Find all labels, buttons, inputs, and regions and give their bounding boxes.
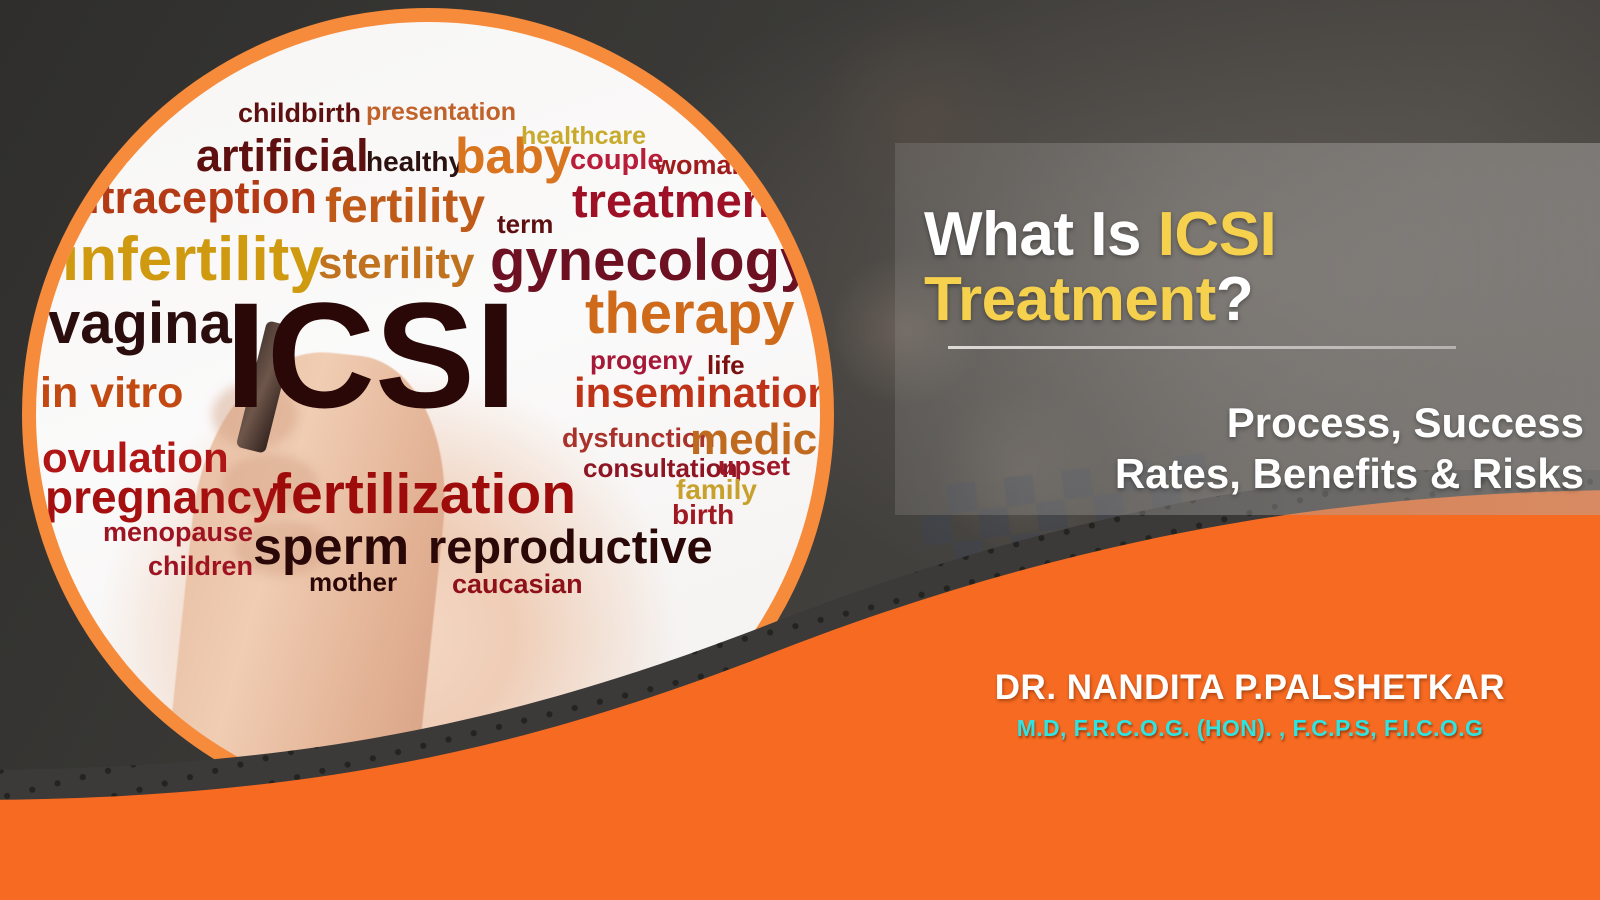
word-cloud-term: ntraception bbox=[72, 175, 317, 220]
word-cloud-term: ICSI bbox=[225, 280, 517, 430]
title-part-question-mark: ? bbox=[1216, 265, 1253, 334]
doctor-credentials: M.D, F.R.C.O.G. (HON). , F.C.P.S, F.I.C.… bbox=[900, 715, 1600, 742]
title-part-treatment: Treatment bbox=[924, 265, 1216, 334]
word-cloud-term: pregnancy bbox=[45, 474, 278, 520]
word-cloud-term: healthy bbox=[366, 148, 464, 176]
title-part-what-is: What Is bbox=[924, 200, 1158, 269]
word-cloud-term: children bbox=[148, 553, 253, 580]
word-cloud-term: childbirth bbox=[238, 100, 361, 127]
word-cloud-term: fertilization bbox=[272, 466, 576, 523]
word-cloud-term: vagina bbox=[48, 295, 232, 353]
word-cloud-term: sperm bbox=[253, 521, 409, 573]
icsi-treatment-banner: childbirthpresentationartificialhealthyb… bbox=[0, 0, 1600, 900]
page-title: What Is ICSI Treatment? bbox=[924, 202, 1584, 333]
word-cloud-term: caucasian bbox=[452, 571, 583, 598]
doctor-name: DR. NANDITA P.PALSHETKAR bbox=[900, 668, 1600, 708]
subtitle-line-2: Rates, Benefits & Risks bbox=[1115, 450, 1584, 497]
word-cloud-term: insemination bbox=[574, 372, 820, 414]
word-cloud-term: presentation bbox=[366, 100, 516, 125]
word-cloud-circle: childbirthpresentationartificialhealthyb… bbox=[22, 8, 834, 820]
page-subtitle: Process, Success Rates, Benefits & Risks bbox=[924, 397, 1584, 499]
title-divider bbox=[948, 346, 1456, 349]
word-cloud-term: treatment bbox=[572, 177, 786, 224]
word-cloud-term: couple bbox=[570, 146, 663, 175]
word-cloud-canvas: childbirthpresentationartificialhealthyb… bbox=[36, 22, 820, 806]
word-cloud-term: mother bbox=[309, 569, 397, 595]
title-part-icsi: ICSI bbox=[1158, 200, 1277, 269]
word-cloud-term: menopause bbox=[103, 519, 253, 546]
subtitle-line-1: Process, Success bbox=[1227, 399, 1584, 446]
word-cloud-term: fertility bbox=[325, 183, 485, 231]
word-cloud-term: reproductive bbox=[428, 523, 713, 570]
word-cloud-term: therapy bbox=[585, 285, 795, 343]
word-cloud-term: in vitro bbox=[40, 372, 183, 415]
